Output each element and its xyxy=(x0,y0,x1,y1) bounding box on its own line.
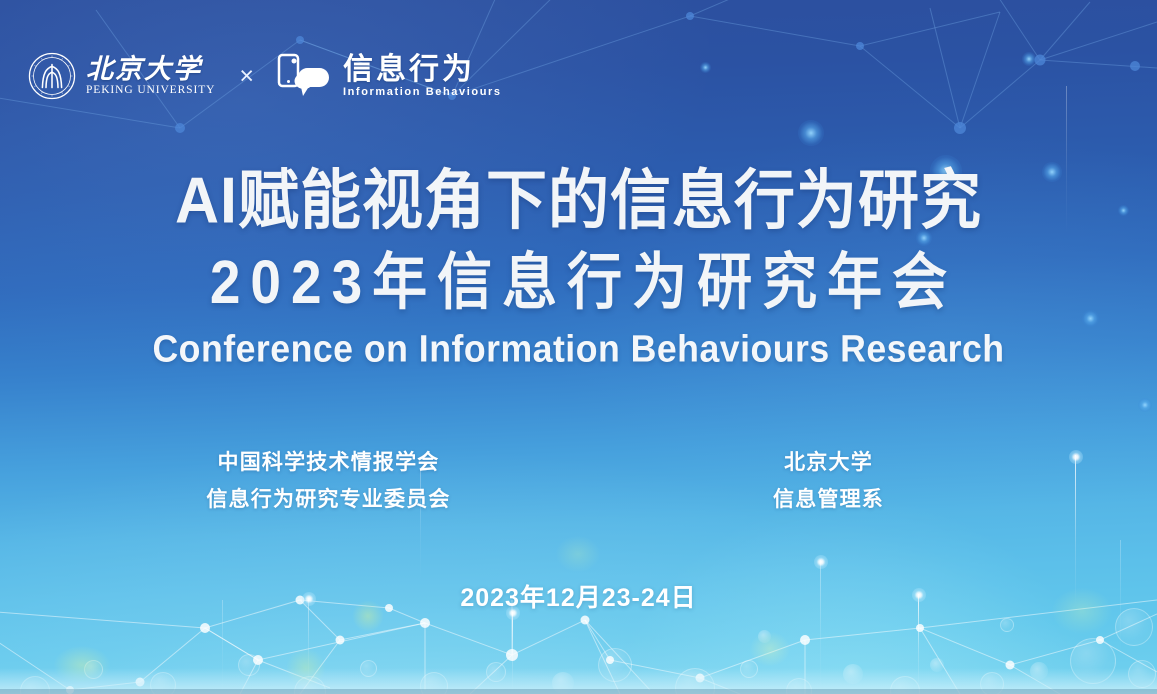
title-block: AI赋能视角下的信息行为研究 2023年信息行为研究年会 Conference … xyxy=(0,168,1157,368)
poster-subtitle-en: Conference on Information Behaviours Res… xyxy=(6,329,1151,369)
conference-poster: 北京大学 PEKING UNIVERSITY × 信息行为 Informatio… xyxy=(0,0,1157,694)
glow-dot xyxy=(1022,52,1036,66)
bottom-edge-line xyxy=(0,689,1157,694)
lens-flare-speck xyxy=(286,648,326,688)
bokeh-bubble xyxy=(1030,662,1048,680)
ib-name-en: Information Behaviours xyxy=(343,86,502,98)
lens-flare-speck xyxy=(556,536,600,572)
pku-name-block: 北京大学 PEKING UNIVERSITY xyxy=(86,55,215,97)
conference-date: 2023年12月23-24日 xyxy=(0,578,1157,614)
pku-name-cn: 北京大学 xyxy=(86,55,202,83)
bokeh-bubble xyxy=(740,660,758,678)
light-ray-head-icon xyxy=(814,555,828,569)
organizer-right-line-2: 信息管理系 xyxy=(619,489,1039,510)
poster-main-title: AI赋能视角下的信息行为研究 xyxy=(0,166,1157,234)
bokeh-bubble xyxy=(890,676,920,694)
peking-university-seal-icon xyxy=(28,52,76,100)
organizer-left-line-1: 中国科学技术情报学会 xyxy=(119,452,539,473)
bokeh-bubble xyxy=(1128,660,1156,688)
bokeh-bubble xyxy=(150,672,176,694)
bokeh-bubble xyxy=(84,660,103,679)
bokeh-bubble xyxy=(980,672,1004,694)
glow-dot xyxy=(700,62,711,73)
lens-flare-speck xyxy=(750,632,790,666)
glow-dot xyxy=(1138,398,1152,412)
organizer-left: 中国科学技术情报学会 信息行为研究专业委员会 xyxy=(119,452,539,510)
ib-name-cn: 信息行为 xyxy=(343,54,475,86)
lens-flare-speck xyxy=(54,646,110,684)
bokeh-bubble xyxy=(420,672,448,694)
glow-dot xyxy=(798,120,824,146)
ib-name-block: 信息行为 Information Behaviours xyxy=(343,54,502,99)
pku-name-en: PEKING UNIVERSITY xyxy=(86,84,215,97)
bokeh-bubble xyxy=(20,676,50,694)
organizer-right-line-1: 北京大学 xyxy=(619,452,1039,473)
bottom-light-fade xyxy=(0,668,1157,694)
organizer-right: 北京大学 信息管理系 xyxy=(619,452,1039,510)
bokeh-bubble xyxy=(238,654,260,676)
peking-university-logo: 北京大学 PEKING UNIVERSITY xyxy=(28,52,215,100)
bokeh-bubble xyxy=(598,648,632,682)
organizers-block: 中国科学技术情报学会 信息行为研究专业委员会 北京大学 信息管理系 xyxy=(0,452,1157,510)
phone-chat-bubble-icon xyxy=(276,53,332,99)
bokeh-bubble xyxy=(930,658,944,672)
bokeh-bubble xyxy=(758,630,771,643)
light-ray xyxy=(512,612,513,694)
bokeh-bubble xyxy=(843,664,863,684)
bokeh-bubble xyxy=(552,672,574,694)
logo-separator-x-icon: × xyxy=(239,64,254,89)
bokeh-bubble xyxy=(1070,638,1116,684)
bokeh-bubble xyxy=(675,668,715,694)
information-behaviours-logo: 信息行为 Information Behaviours xyxy=(276,53,502,99)
logo-header: 北京大学 PEKING UNIVERSITY × 信息行为 Informatio… xyxy=(28,52,502,100)
bokeh-bubble xyxy=(786,678,812,694)
bokeh-bubble xyxy=(294,676,326,694)
poster-subtitle-cn: 2023年信息行为研究年会 xyxy=(0,251,1157,316)
light-ray xyxy=(222,600,223,694)
bokeh-bubble xyxy=(1000,618,1014,632)
organizer-left-line-2: 信息行为研究专业委员会 xyxy=(119,489,539,510)
bokeh-bubble xyxy=(486,662,506,682)
bokeh-bubble xyxy=(360,660,377,677)
